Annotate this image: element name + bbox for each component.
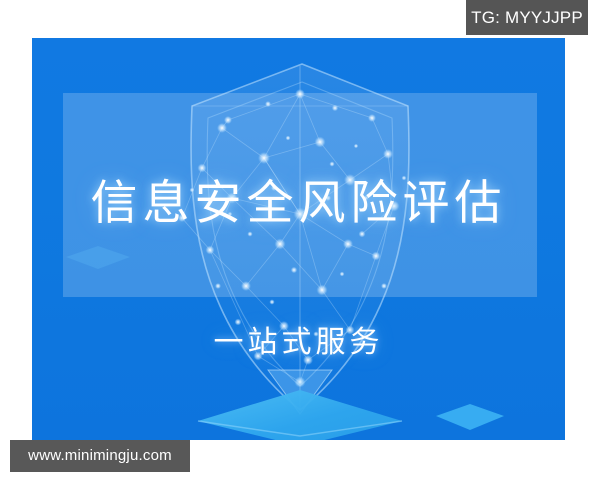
tg-badge: TG: MYYJJPP — [466, 0, 588, 35]
poster-image: 信息安全风险评估 一站式服务 — [32, 38, 565, 440]
diamond-small-left — [66, 246, 130, 269]
page-subtitle: 一站式服务 — [32, 326, 565, 359]
diamond-small-right — [436, 404, 504, 430]
watermark-label: www.minimingju.com — [10, 440, 190, 472]
page-title: 信息安全风险评估 — [32, 178, 565, 230]
diamond-base-shape — [198, 390, 402, 440]
shield-network-graphic — [32, 38, 565, 440]
screenshot-canvas: 信息安全风险评估 一站式服务 TG: MYYJJPP www.minimingj… — [0, 0, 600, 480]
